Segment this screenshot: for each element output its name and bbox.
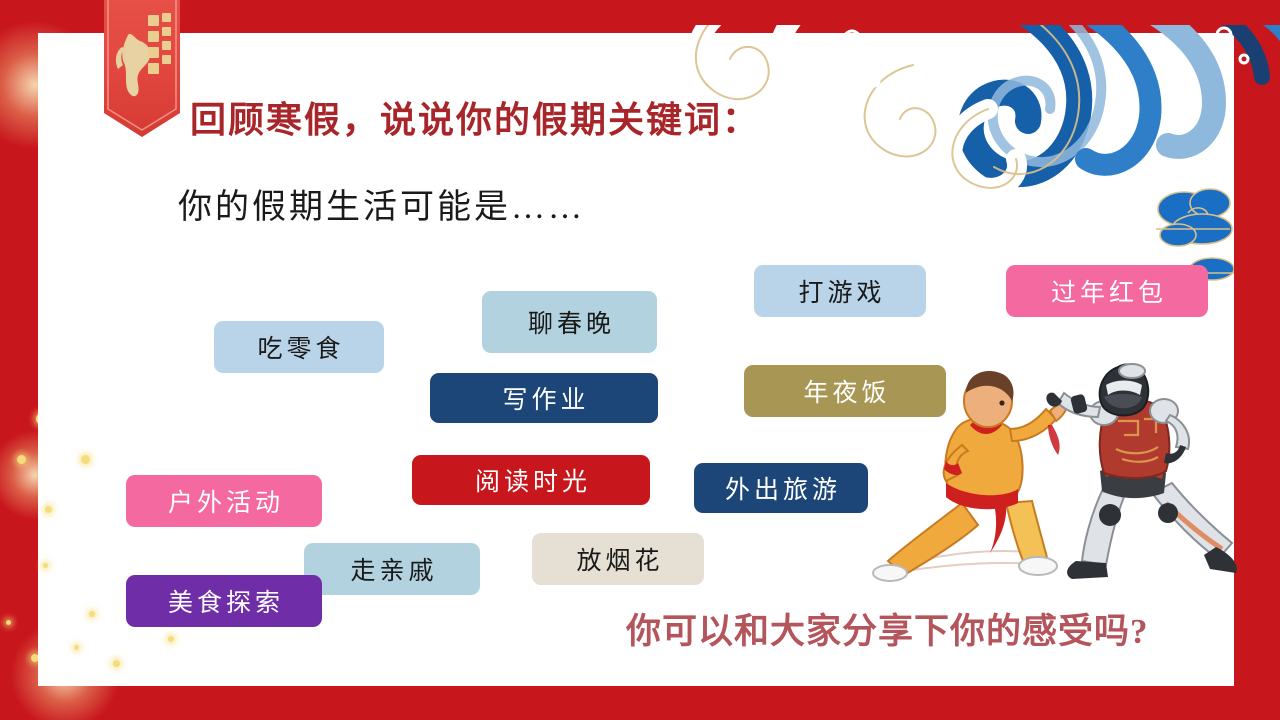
new-year-hanging-banner (98, 0, 186, 151)
humanoid-robot-figure (1046, 364, 1236, 579)
sparkle-dot (43, 563, 48, 568)
sparkle-dot (74, 645, 79, 650)
kungfu-vs-robot-illustration (866, 363, 1276, 593)
sparkle-dot (113, 660, 120, 667)
sparkle-dot (17, 455, 26, 464)
closing-question: 你可以和大家分享下你的感受吗? (626, 603, 1149, 654)
keyword-tag[interactable]: 户外活动 (126, 475, 322, 527)
keyword-tag[interactable]: 美食探索 (126, 575, 322, 627)
slide-canvas: 回顾寒假，说说你的假期关键词： 你的假期生活可能是…… 你可以和大家分享下你的感… (0, 0, 1280, 720)
content-card: 回顾寒假，说说你的假期关键词： 你的假期生活可能是…… 你可以和大家分享下你的感… (38, 33, 1234, 686)
keyword-tag[interactable]: 吃零食 (214, 321, 384, 373)
keyword-tag[interactable]: 过年红包 (1006, 265, 1208, 317)
page-title: 回顾寒假，说说你的假期关键词： (190, 91, 760, 143)
keyword-tag[interactable]: 放烟花 (532, 533, 704, 585)
keyword-tag[interactable]: 阅读时光 (412, 455, 650, 505)
keyword-tag[interactable]: 聊春晚 (482, 291, 657, 353)
sparkle-dot (6, 620, 11, 625)
martial-artist-figure (873, 371, 1066, 581)
sparkle-dot (89, 611, 95, 617)
sparkle-dot (45, 506, 52, 513)
page-subtitle: 你的假期生活可能是…… (178, 179, 585, 228)
keyword-tag[interactable]: 写作业 (430, 373, 658, 423)
sparkle-dot (81, 455, 90, 464)
sparkle-dot (168, 636, 174, 642)
keyword-tag[interactable]: 打游戏 (754, 265, 926, 317)
keyword-tag[interactable]: 走亲戚 (304, 543, 480, 595)
keyword-tag[interactable]: 外出旅游 (694, 463, 868, 513)
